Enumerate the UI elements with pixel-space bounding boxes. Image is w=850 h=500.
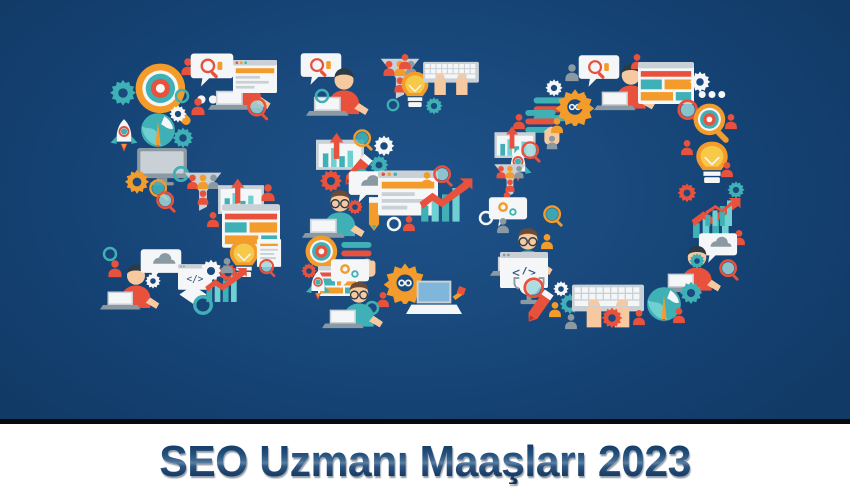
caption-strip: SEO Uzmanı Maaşları 2023 bbox=[0, 424, 850, 500]
hero-banner: </> bbox=[0, 0, 850, 419]
letter-s-cluster bbox=[100, 54, 281, 314]
letter-o-cluster bbox=[480, 54, 745, 329]
page-title: SEO Uzmanı Maaşları 2023 bbox=[159, 440, 691, 484]
letter-e-cluster bbox=[301, 53, 479, 328]
page-root: </> bbox=[0, 0, 850, 500]
seo-icon-collage: </> bbox=[0, 0, 850, 419]
